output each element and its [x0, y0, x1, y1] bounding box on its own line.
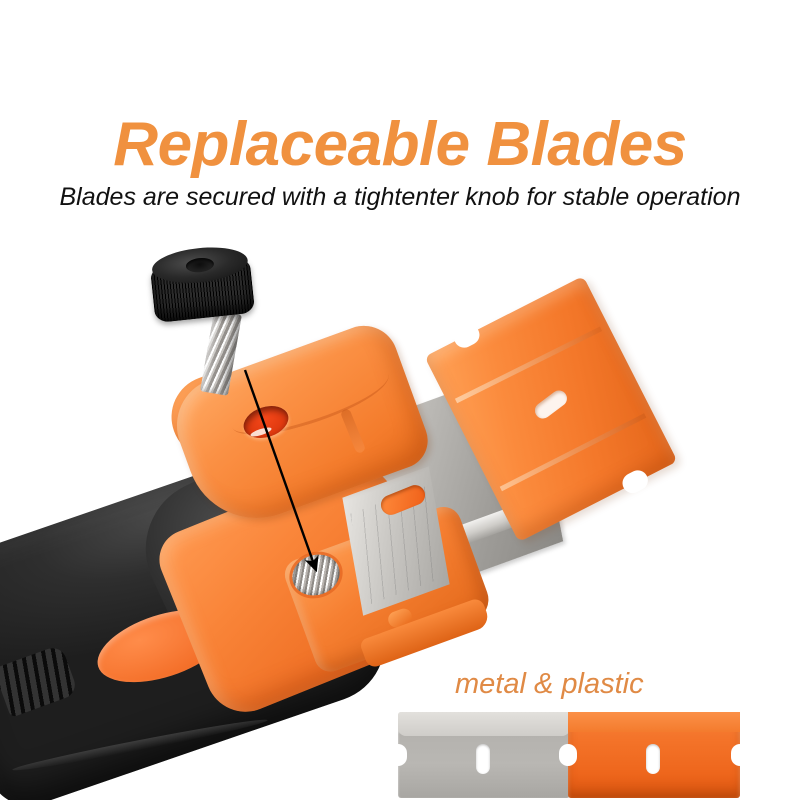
tightener-knob — [148, 243, 255, 327]
page-title: Replaceable Blades — [0, 114, 800, 176]
plastic-blade-sample-spine — [568, 712, 740, 732]
samples-caption: metal & plastic — [455, 668, 644, 700]
product-feature-image: Replaceable Blades Blades are secured wi… — [0, 0, 800, 800]
product-photo-stage — [0, 200, 800, 800]
plastic-blade-sample-notch-left — [559, 744, 577, 766]
metal-blade-sample — [398, 712, 570, 798]
plastic-blade-sample-slot — [646, 744, 660, 774]
plastic-blade-sample-notch-right — [731, 744, 749, 766]
metal-blade-sample-spine — [398, 712, 570, 736]
metal-blade-sample-notch-left — [389, 744, 407, 766]
plastic-blade-sample — [568, 712, 740, 798]
metal-blade-sample-slot — [476, 744, 490, 774]
